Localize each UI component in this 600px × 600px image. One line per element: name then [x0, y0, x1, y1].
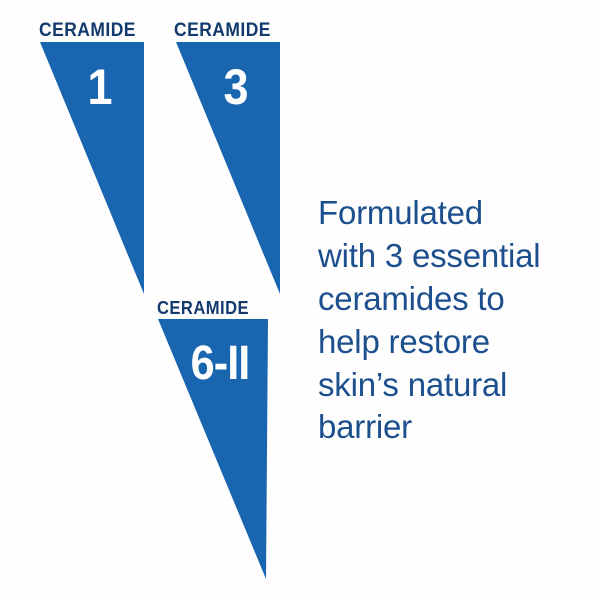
copy-line-2: with 3 essential [318, 235, 586, 278]
ceramide-label-1: CERAMIDE [39, 21, 136, 40]
copy-line-1: Formulated [318, 192, 586, 235]
copy-line-3: ceramides to [318, 278, 586, 321]
ceramide-number-1: 1 [80, 62, 120, 112]
ceramide-label-6ii: CERAMIDE [157, 299, 249, 317]
promo-graphic-canvas: CERAMIDE 1 CERAMIDE 3 CERAMIDE 6-II Form… [0, 0, 600, 600]
copy-line-4: help restore [318, 321, 586, 364]
ceramide-number-3: 3 [216, 62, 256, 112]
ceramide-label-3: CERAMIDE [174, 21, 271, 40]
ceramide-number-6ii: 6-II [184, 340, 256, 388]
marketing-copy-block: Formulated with 3 essential ceramides to… [318, 192, 586, 449]
copy-line-5: skin’s natural [318, 364, 586, 407]
copy-line-6: barrier [318, 406, 586, 449]
